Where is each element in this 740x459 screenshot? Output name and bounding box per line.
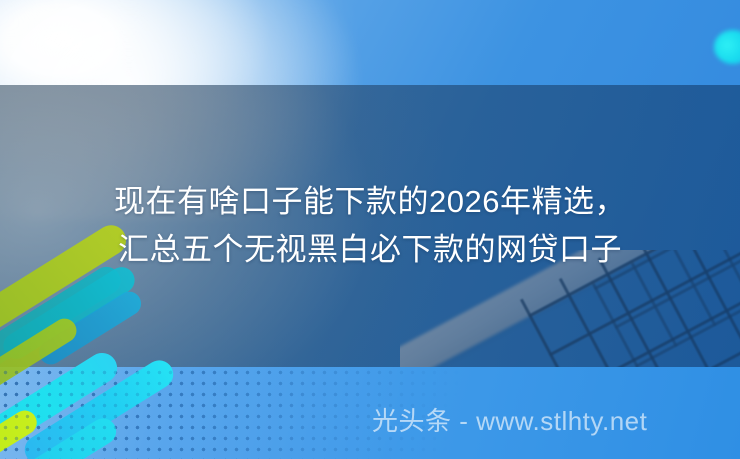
site-watermark: 光头条 - www.stlhty.net — [372, 404, 647, 438]
headline-line-1: 现在有啥口子能下款的2026年精选， — [0, 178, 740, 226]
banner-canvas: 现在有啥口子能下款的2026年精选， 汇总五个无视黑白必下款的网贷口子 光头条 … — [0, 0, 740, 459]
headline: 现在有啥口子能下款的2026年精选， 汇总五个无视黑白必下款的网贷口子 — [0, 178, 740, 274]
headline-line-2: 汇总五个无视黑白必下款的网贷口子 — [0, 226, 740, 274]
